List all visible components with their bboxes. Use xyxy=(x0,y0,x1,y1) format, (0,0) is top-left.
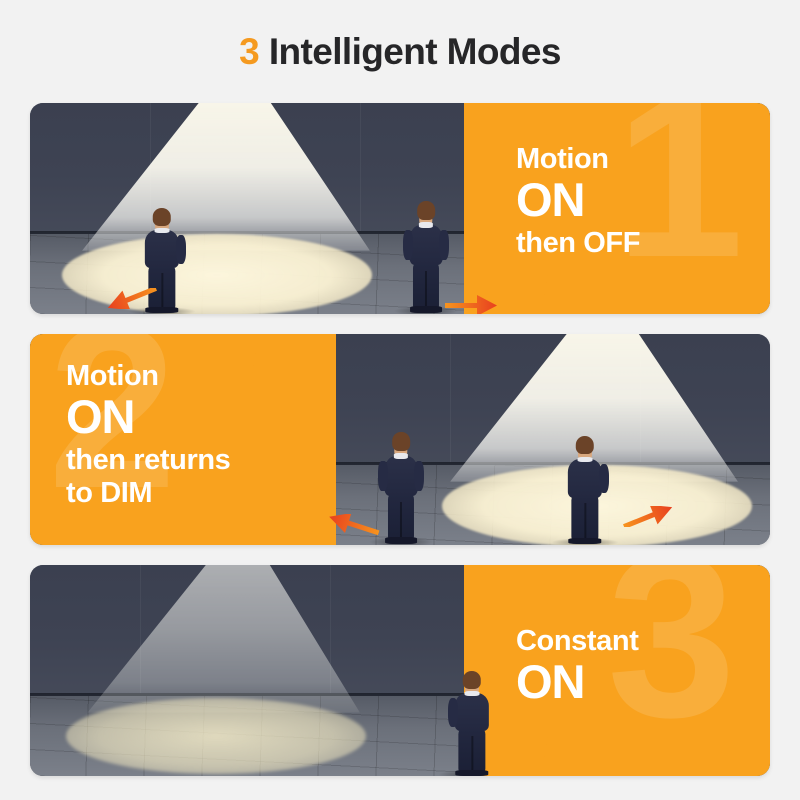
figure-torso xyxy=(145,230,179,268)
figure-hair xyxy=(576,436,594,454)
arrow-away-left xyxy=(326,514,380,535)
figure-torso xyxy=(385,456,418,496)
person-in-light xyxy=(563,436,607,544)
caption-line: then returns xyxy=(66,446,230,475)
figure-hair xyxy=(153,208,171,226)
figure-legs xyxy=(388,494,414,540)
caption-line: ON xyxy=(66,393,230,440)
caption-line: Motion xyxy=(66,362,230,391)
figure-collar xyxy=(465,691,480,696)
figure-hair xyxy=(392,432,410,451)
figure-shoes xyxy=(455,770,488,776)
figure-arm xyxy=(599,464,609,493)
person-in-dark xyxy=(380,432,422,544)
caption-block-3: 3 Constant ON xyxy=(464,565,770,776)
figure-legs xyxy=(458,729,485,772)
caption-line: Motion xyxy=(516,145,640,174)
mode-panel-3: 3 Constant ON xyxy=(30,565,770,776)
caption-block-2: 2 Motion ON then returns to DIM xyxy=(30,334,336,545)
figure-arm xyxy=(403,230,412,260)
light-pool xyxy=(66,698,366,774)
arrow-into-light xyxy=(104,288,158,309)
figure-shoes xyxy=(385,537,417,544)
figure-arm xyxy=(448,698,458,726)
arrow-into-light xyxy=(622,506,676,527)
figure-collar xyxy=(578,457,593,462)
arrow-away-right xyxy=(445,295,499,314)
caption-line: ON xyxy=(516,176,640,223)
figure-arm xyxy=(439,230,448,260)
figure-arm xyxy=(414,461,423,491)
caption-line: ON xyxy=(516,658,638,705)
curve-edge xyxy=(248,334,336,545)
figure-arm xyxy=(176,235,186,263)
figure-hair xyxy=(463,671,481,689)
figure-shoes xyxy=(568,538,601,544)
caption-block-1: 1 Motion ON then OFF xyxy=(464,103,770,314)
figure-collar xyxy=(394,453,408,459)
caption-line: to DIM xyxy=(66,479,230,508)
figure-torso xyxy=(455,693,489,731)
title-label: Intelligent Modes xyxy=(269,31,561,72)
figure-collar xyxy=(419,222,433,228)
page-title: 3 Intelligent Modes xyxy=(239,33,561,70)
person-in-dark xyxy=(405,201,447,313)
caption-1: Motion ON then OFF xyxy=(516,145,640,258)
caption-2: Motion ON then returns to DIM xyxy=(66,362,230,508)
mode-panel-1: 1 Motion ON then OFF xyxy=(30,103,770,314)
figure-legs xyxy=(413,263,439,309)
caption-line: Constant xyxy=(516,627,638,656)
page-header: 3 Intelligent Modes xyxy=(0,0,800,103)
title-number: 3 xyxy=(239,31,259,72)
figure-hair xyxy=(417,201,435,220)
caption-line: then OFF xyxy=(516,229,640,258)
figure-torso xyxy=(568,459,602,498)
figure-collar xyxy=(155,228,170,233)
figure-shoes xyxy=(410,306,442,313)
mode-panel-2: 2 Motion ON then returns to DIM xyxy=(30,334,770,545)
figure-legs xyxy=(571,495,598,539)
figure-arm xyxy=(378,461,387,491)
figure-torso xyxy=(410,225,443,265)
caption-3: Constant ON xyxy=(516,627,638,705)
